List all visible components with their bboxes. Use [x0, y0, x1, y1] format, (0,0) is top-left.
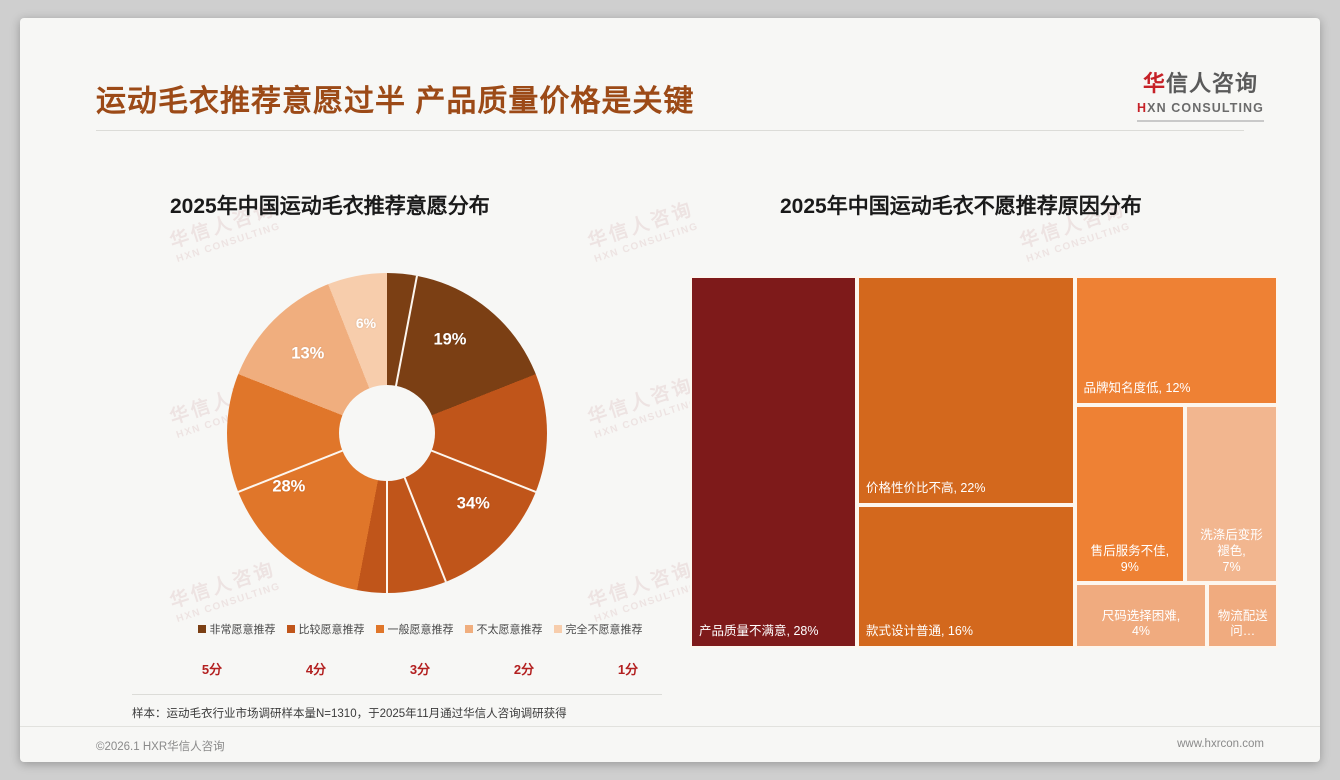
- logo-english-text: HXN CONSULTING: [1137, 102, 1264, 115]
- legend-item[interactable]: 完全不愿意推荐: [554, 621, 643, 637]
- score-label: 1分: [618, 659, 638, 678]
- treemap-cell[interactable]: 售后服务不佳,9%: [1075, 405, 1186, 584]
- treemap-cell[interactable]: 价格性价比不高, 22%: [857, 276, 1075, 505]
- company-logo: 华信人咨询 HXN CONSULTING: [1137, 73, 1264, 122]
- treemap-cell[interactable]: 物流配送问…: [1207, 583, 1278, 648]
- treemap-cell-label: 洗涤后变形褪色,7%: [1187, 528, 1276, 575]
- treemap-cell-label: 价格性价比不高, 22%: [859, 481, 1073, 497]
- score-label: 4分: [306, 659, 326, 678]
- chart-title-right: 2025年中国运动毛衣不愿推荐原因分布: [780, 190, 1142, 220]
- legend-label: 非常愿意推荐: [210, 621, 276, 637]
- logo-cn-rest: 信人咨询: [1166, 71, 1258, 96]
- treemap-cell[interactable]: 洗涤后变形褪色,7%: [1185, 405, 1278, 584]
- score-label: 3分: [410, 659, 430, 678]
- logo-cn-accent: 华: [1143, 71, 1166, 96]
- logo-underline: [1137, 120, 1264, 122]
- chart-title-left: 2025年中国运动毛衣推荐意愿分布: [170, 190, 490, 220]
- legend-item[interactable]: 非常愿意推荐: [198, 621, 276, 637]
- watermark: 华信人咨询HXN CONSULTING: [585, 198, 701, 266]
- legend-item[interactable]: 一般愿意推荐: [376, 621, 454, 637]
- legend-swatch-icon: [465, 625, 473, 633]
- treemap-cell[interactable]: 款式设计普通, 16%: [857, 505, 1075, 648]
- legend-label: 完全不愿意推荐: [566, 621, 643, 637]
- slide-canvas: 运动毛衣推荐意愿过半 产品质量价格是关键 华信人咨询 HXN CONSULTIN…: [20, 18, 1320, 762]
- logo-chinese-text: 华信人咨询: [1137, 73, 1264, 95]
- legend-item[interactable]: 比较愿意推荐: [287, 621, 365, 637]
- score-scale-row: 5分4分3分2分1分: [160, 659, 680, 678]
- footer-copyright: ©2026.1 HXR华信人咨询: [96, 738, 225, 754]
- watermark: 华信人咨询HXN CONSULTING: [585, 374, 701, 442]
- logo-en-accent: H: [1137, 101, 1147, 115]
- legend-item[interactable]: 不太愿意推荐: [465, 621, 543, 637]
- treemap-cell-label: 产品质量不满意, 28%: [692, 624, 855, 640]
- legend-swatch-icon: [198, 625, 206, 633]
- donut-slice-label: 28%: [272, 477, 305, 496]
- donut-chart: 19%34%28%13%6%: [227, 273, 547, 593]
- header-divider: [96, 130, 1244, 131]
- treemap-cell[interactable]: 尺码选择困难,4%: [1075, 583, 1208, 648]
- donut-slice-label: 19%: [433, 331, 466, 350]
- legend-label: 比较愿意推荐: [299, 621, 365, 637]
- legend-swatch-icon: [287, 625, 295, 633]
- footer-website: www.hxrcon.com: [1177, 738, 1264, 750]
- page-title: 运动毛衣推荐意愿过半 产品质量价格是关键: [96, 76, 694, 120]
- donut-hole: [339, 385, 435, 481]
- treemap-chart: 产品质量不满意, 28%价格性价比不高, 22%款式设计普通, 16%品牌知名度…: [690, 276, 1278, 648]
- treemap-cell-label: 款式设计普通, 16%: [859, 624, 1073, 640]
- treemap-cell-label: 品牌知名度低, 12%: [1077, 381, 1276, 397]
- score-label: 2分: [514, 659, 534, 678]
- score-label: 5分: [202, 659, 222, 678]
- logo-en-rest: XN CONSULTING: [1147, 101, 1264, 115]
- legend-label: 一般愿意推荐: [388, 621, 454, 637]
- treemap-cell-label: 尺码选择困难,4%: [1077, 609, 1206, 640]
- donut-slice-label: 34%: [457, 495, 490, 514]
- donut-slice-label: 13%: [291, 344, 324, 363]
- treemap-cell-label: 售后服务不佳,9%: [1077, 544, 1184, 575]
- treemap-cell-label: 物流配送问…: [1209, 609, 1276, 640]
- donut-slice-label: 6%: [356, 315, 376, 331]
- donut-legend: 非常愿意推荐比较愿意推荐一般愿意推荐不太愿意推荐完全不愿意推荐: [160, 621, 680, 637]
- watermark: 华信人咨询HXN CONSULTING: [585, 558, 701, 626]
- footnote-text: 样本：运动毛衣行业市场调研样本量N=1310，于2025年11月通过华信人咨询调…: [132, 705, 567, 721]
- legend-swatch-icon: [554, 625, 562, 633]
- footnote-divider: [132, 694, 662, 695]
- footer-divider: [20, 726, 1320, 727]
- treemap-cell[interactable]: 品牌知名度低, 12%: [1075, 276, 1278, 405]
- legend-label: 不太愿意推荐: [477, 621, 543, 637]
- treemap-cell[interactable]: 产品质量不满意, 28%: [690, 276, 857, 648]
- slide-header: 运动毛衣推荐意愿过半 产品质量价格是关键 华信人咨询 HXN CONSULTIN…: [20, 18, 1320, 131]
- legend-swatch-icon: [376, 625, 384, 633]
